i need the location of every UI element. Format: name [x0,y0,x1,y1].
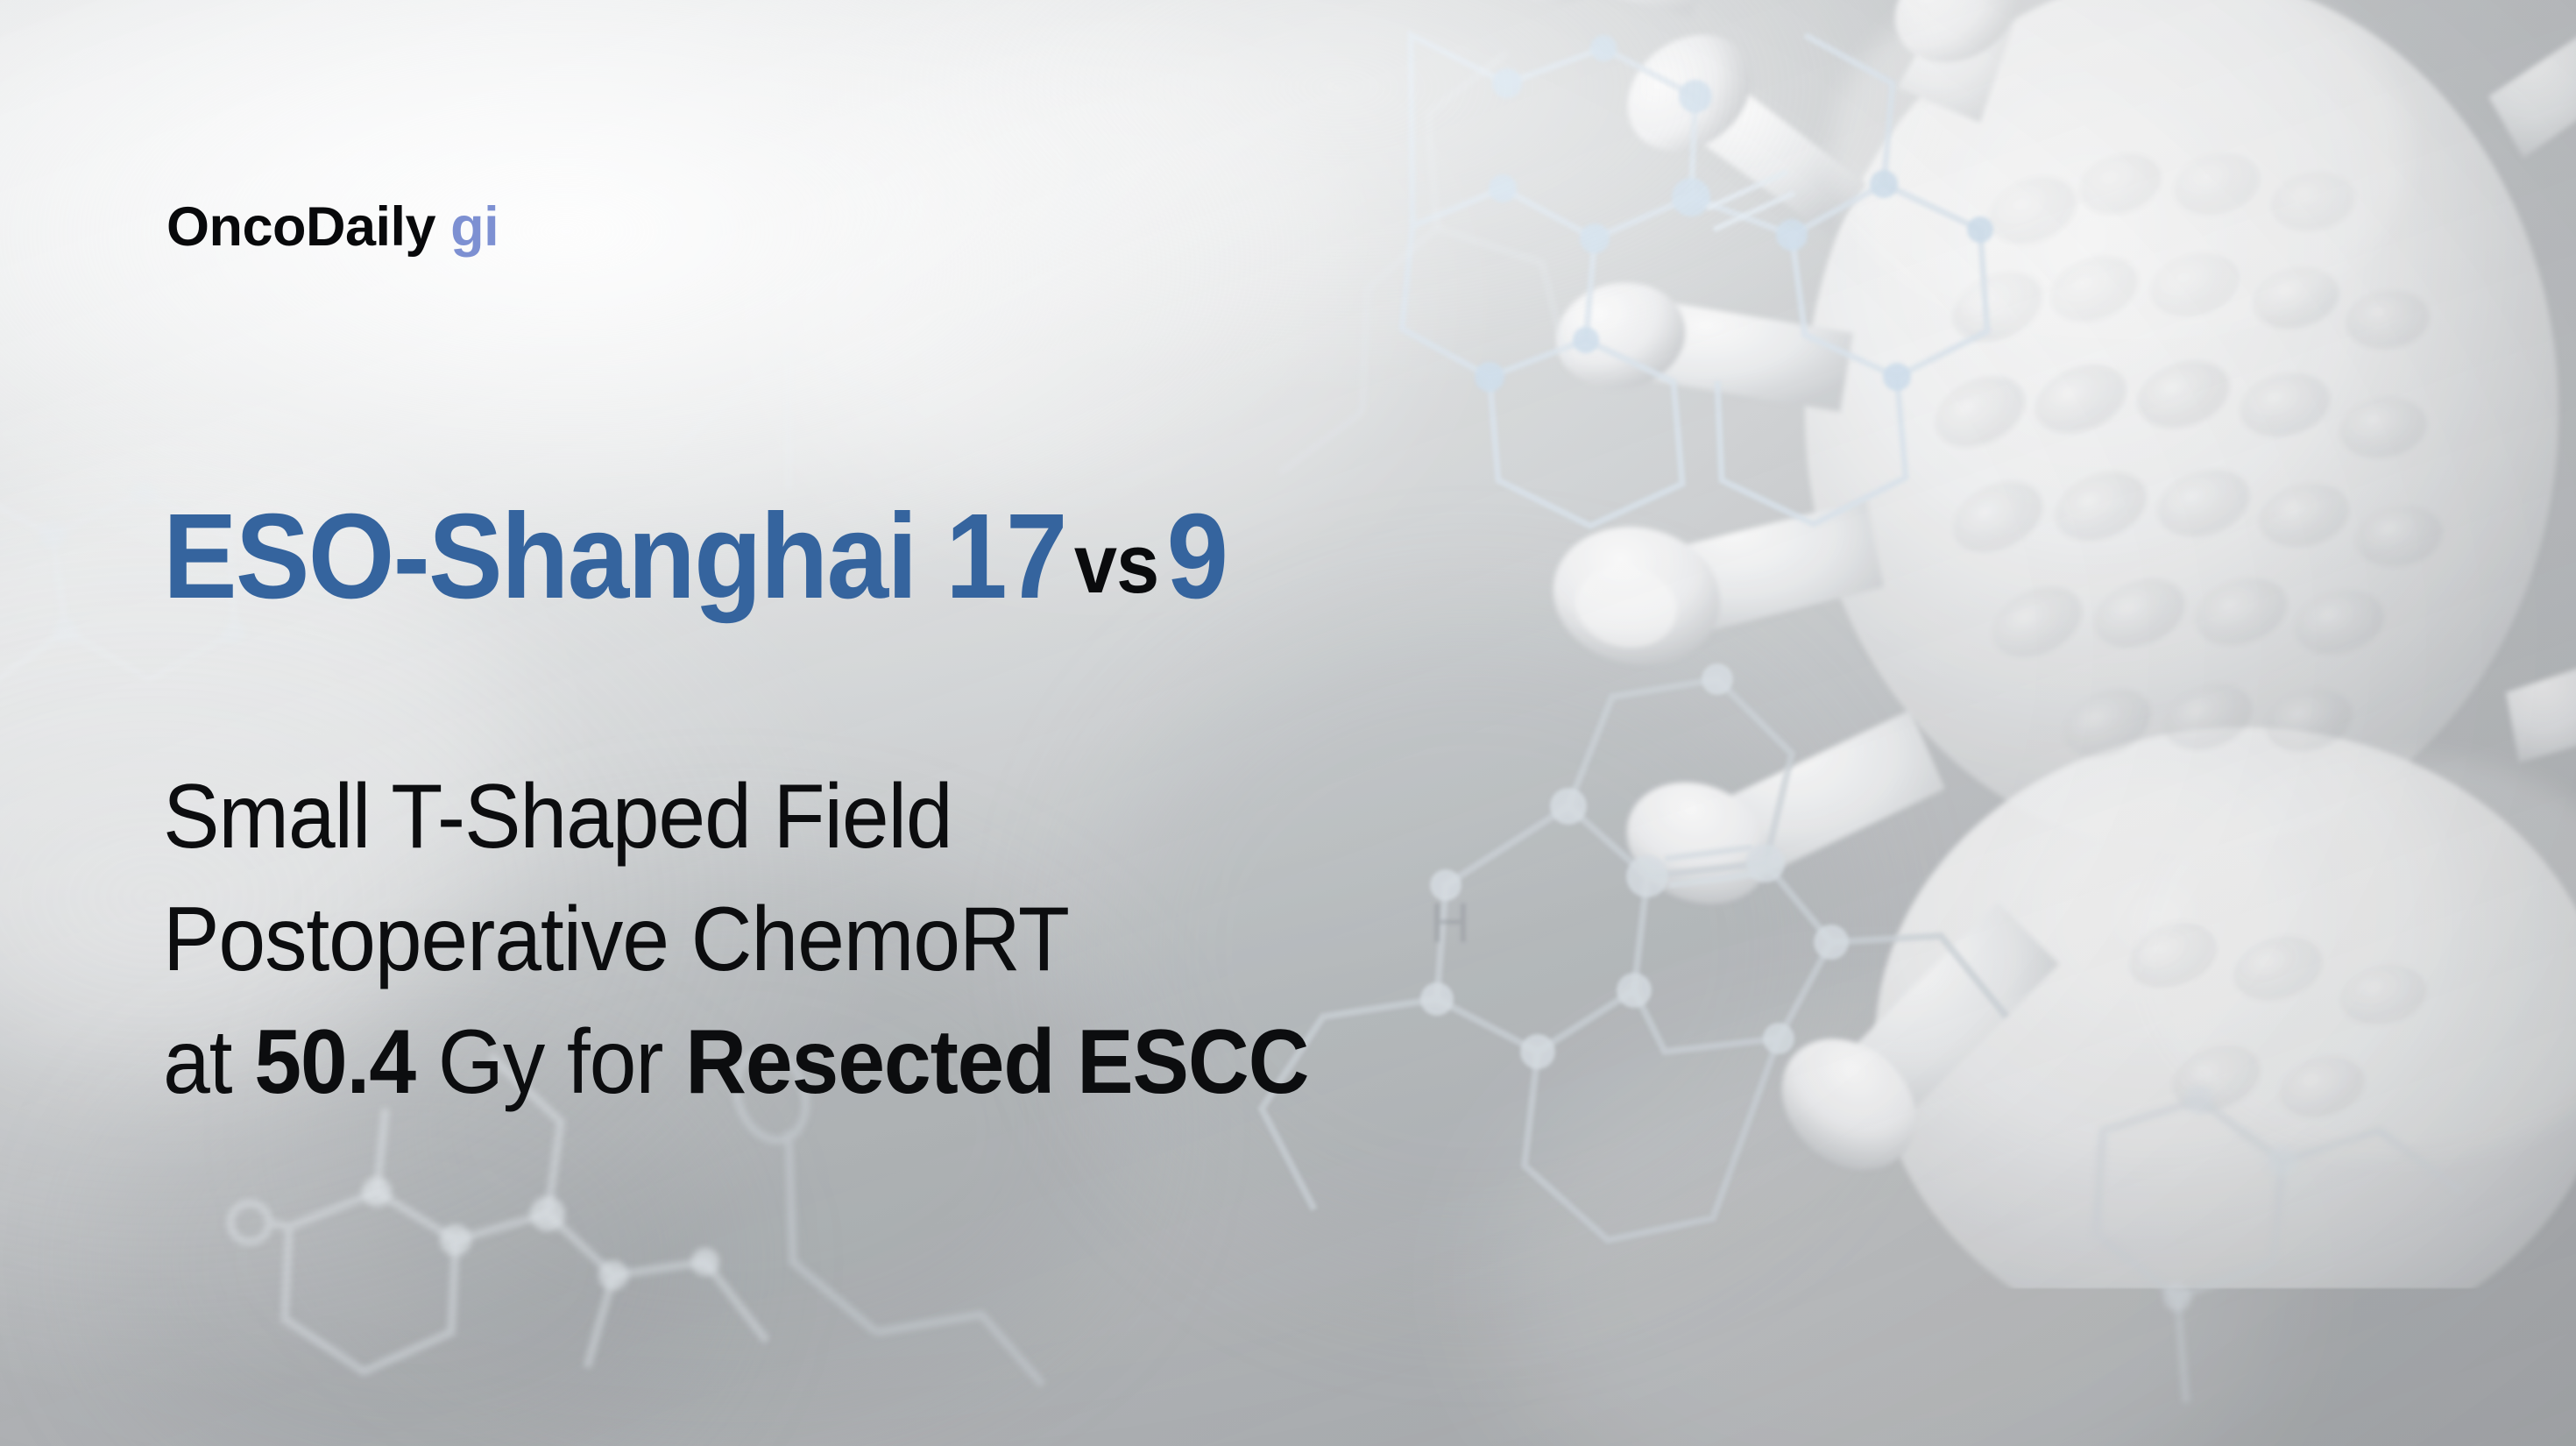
subtitle-line3-prefix: at [163,1011,254,1113]
headline-vs-label: vs [1066,517,1167,611]
subtitle: Small T-Shaped Field Postoperative Chemo… [163,755,1308,1123]
subtitle-line-2: Postoperative ChemoRT [163,878,1308,1001]
headline: ESO-Shanghai 17vs9 [163,496,1227,617]
subtitle-line-3: at 50.4 Gy for Resected ESCC [163,1001,1308,1123]
subtitle-dose-value: 50.4 [254,1011,415,1113]
brand-logo[interactable]: OncoDaily gi [166,200,499,255]
subtitle-subject: Resected ESCC [685,1011,1308,1113]
headline-comparator: 9 [1166,489,1227,624]
banner-content: OncoDaily gi ESO-Shanghai 17vs9 Small T-… [0,0,2576,1446]
brand-name-primary: OncoDaily [166,196,435,258]
brand-name-secondary: gi [450,196,499,258]
banner-canvas: H [0,0,2576,1446]
headline-trial-name: ESO-Shanghai 17 [163,489,1066,624]
subtitle-line3-middle: Gy for [415,1011,685,1113]
subtitle-line-1: Small T-Shaped Field [163,755,1308,878]
